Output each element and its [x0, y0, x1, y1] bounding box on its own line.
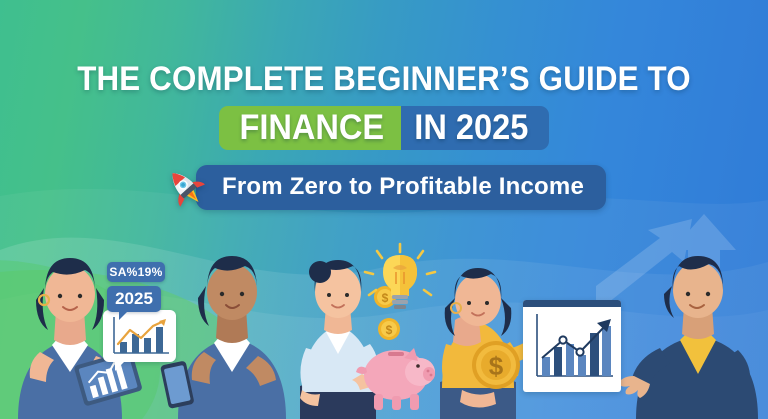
woman-with-piggy-bank — [300, 260, 378, 419]
rocket-icon — [162, 164, 208, 210]
finance-guide-banner: THE COMPLETE BEGINNER’S GUIDE TO FINANCE… — [0, 0, 768, 419]
person-with-phone — [160, 256, 286, 419]
highlight-year-label: IN 2025 — [414, 108, 528, 148]
coin-icon-large: $ — [472, 341, 520, 389]
highlight-finance-pill: FINANCE — [219, 106, 401, 150]
small-bar-chart — [103, 310, 176, 362]
board-frame-top — [523, 300, 621, 307]
whiteboard-bar-chart — [523, 300, 621, 392]
status-badge-year: 2025 — [107, 286, 161, 312]
headline-block: THE COMPLETE BEGINNER’S GUIDE TO FINANCE… — [0, 58, 768, 210]
status-badge-stat: SA%19% — [107, 262, 165, 282]
highlight-year-pill: IN 2025 — [401, 106, 549, 150]
page-title-line1: THE COMPLETE BEGINNER’S GUIDE TO — [31, 58, 738, 100]
subtitle-row: From Zero to Profitable Income — [0, 164, 768, 210]
svg-text:$: $ — [386, 323, 393, 337]
man-presenting — [618, 256, 758, 419]
chart-board — [523, 300, 621, 392]
chart-card-small — [103, 310, 176, 362]
subtitle-pill: From Zero to Profitable Income — [196, 165, 606, 210]
highlight-finance-label: FINANCE — [240, 108, 385, 148]
svg-text:$: $ — [489, 351, 504, 381]
svg-text:$: $ — [382, 291, 389, 305]
page-title-line2: FINANCE IN 2025 — [0, 106, 768, 150]
